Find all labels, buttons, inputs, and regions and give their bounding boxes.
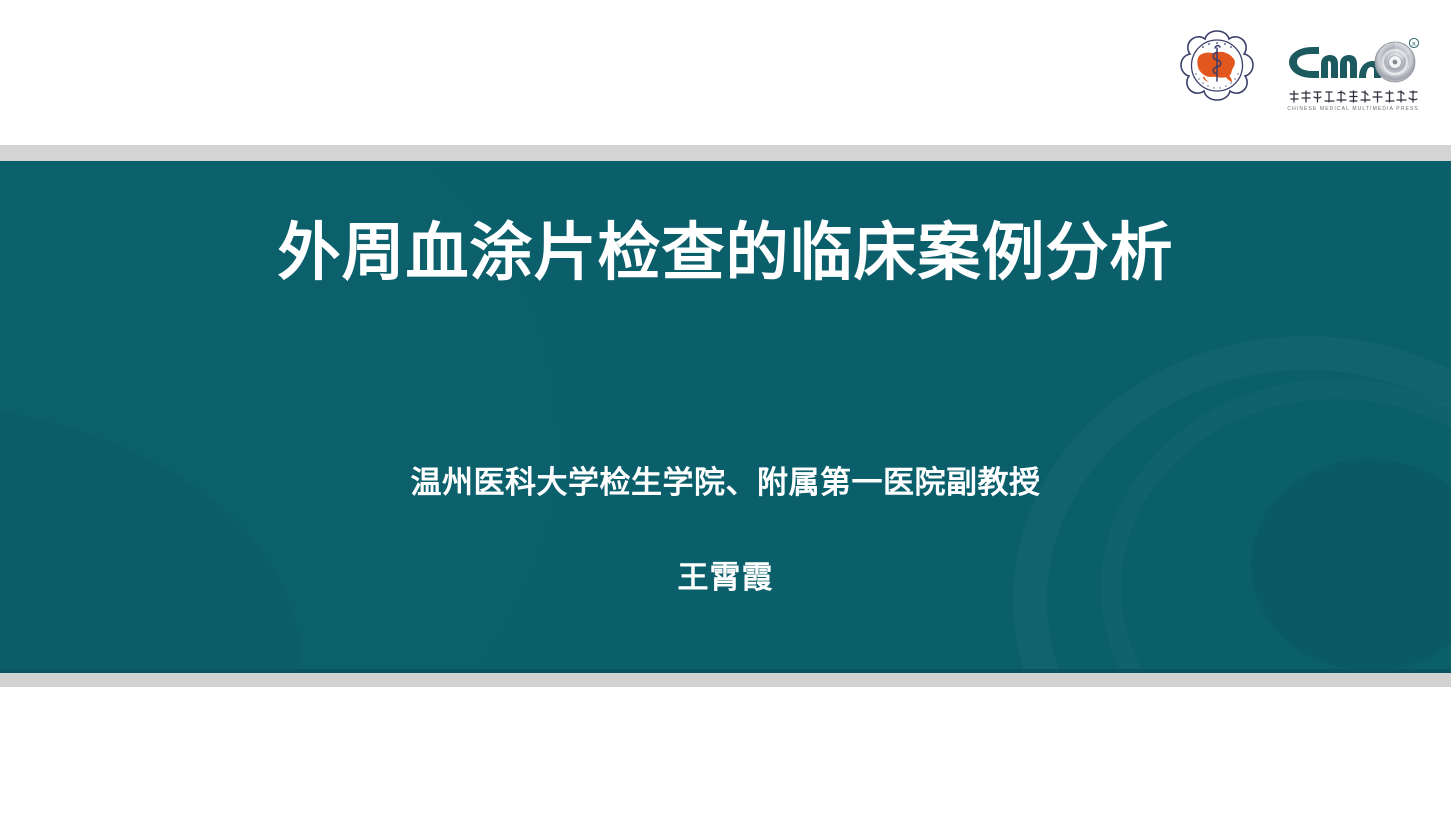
cma-wordmark-with-disc-icon: R [1283,37,1423,87]
slide-header: R [0,0,1451,145]
svg-text:R: R [1412,41,1416,47]
title-panel: 外周血涂片检查的临床案例分析 温州医科大学检生学院、附属第一医院副教授 王霄霞 [0,161,1451,673]
press-english-name: CHINESE MEDICAL MULTIMEDIA PRESS [1287,106,1418,112]
slide-footer [0,687,1451,816]
presentation-slide: R [0,0,1451,816]
press-chinese-name [1287,89,1419,105]
presenter-block: 温州医科大学检生学院、附属第一医院副教授 王霄霞 [0,457,1451,597]
chinese-medical-multimedia-press-logo: R [1283,37,1423,112]
logo-group: R [1169,26,1423,122]
presenter-name: 王霄霞 [0,552,1451,597]
divider-band-top [0,145,1451,161]
slide-title: 外周血涂片检查的临床案例分析 [0,219,1451,288]
chinese-medical-association-emblem [1169,26,1265,122]
divider-band-bottom [0,673,1451,687]
presenter-affiliation: 温州医科大学检生学院、附属第一医院副教授 [0,457,1451,502]
